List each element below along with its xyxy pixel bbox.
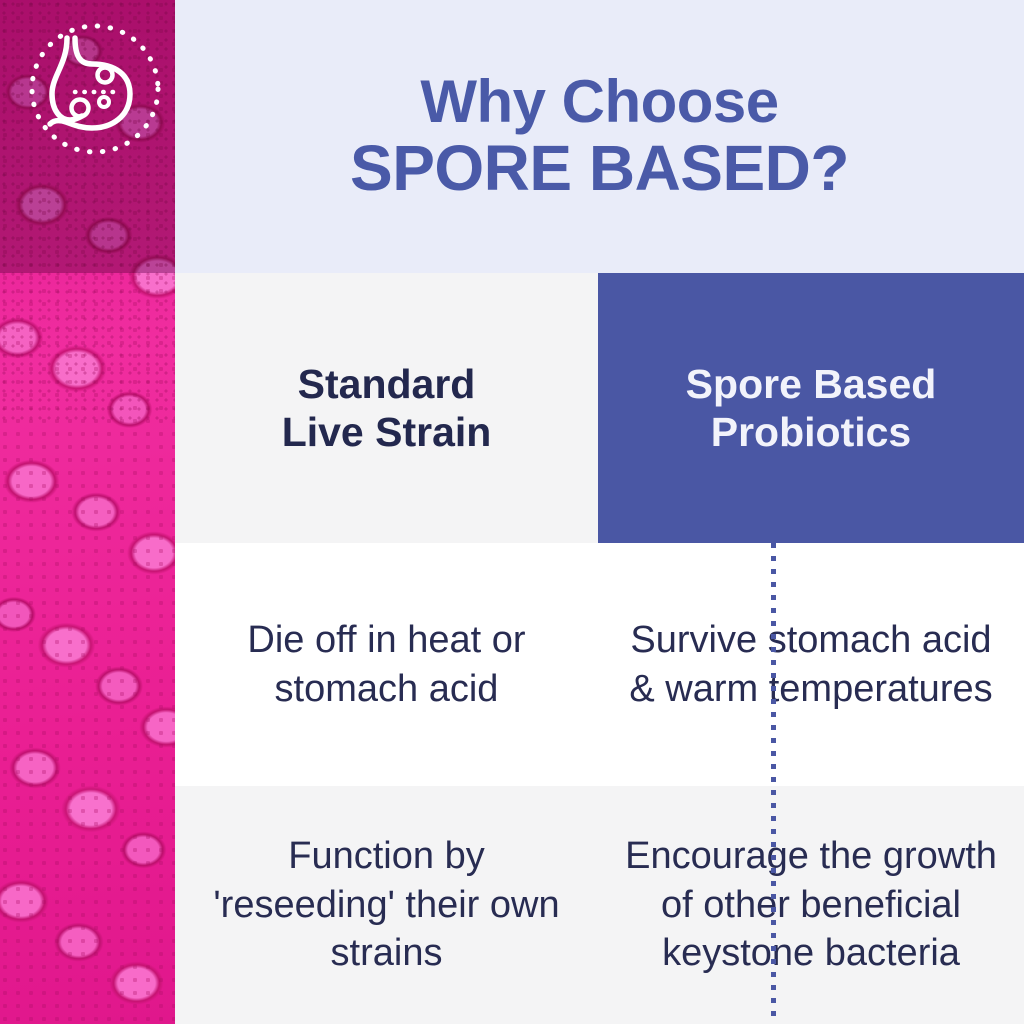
column-header-spore-line-2: Probiotics (711, 409, 911, 455)
infographic-root: Why Choose SPORE BASED? Standard Live St… (0, 0, 1024, 1024)
table-header-row: Standard Live Strain Spore Based Probiot… (175, 273, 1024, 543)
column-header-standard-line-2: Live Strain (282, 409, 492, 455)
row-1-standard-cell: Die off in heat or stomach acid (175, 543, 598, 786)
column-divider-dotted (771, 543, 776, 1024)
header-band: Why Choose SPORE BASED? (175, 0, 1024, 273)
cell-texture-strip (0, 0, 175, 1024)
table-row: Function by 'reseeding' their own strain… (175, 786, 1024, 1024)
comparison-table: Standard Live Strain Spore Based Probiot… (175, 273, 1024, 1024)
column-header-standard-live-strain: Standard Live Strain (175, 273, 598, 543)
column-header-spore-based-probiotics: Spore Based Probiotics (598, 273, 1024, 543)
table-row: Die off in heat or stomach acid Survive … (175, 543, 1024, 786)
column-header-standard-line-1: Standard (298, 361, 476, 407)
page-title-line-1: Why Choose (420, 70, 778, 134)
stomach-icon (22, 16, 168, 162)
column-header-spore-line-1: Spore Based (686, 361, 937, 407)
row-2-spore-cell: Encourage the growth of other beneficial… (598, 786, 1024, 1024)
row-2-standard-cell: Function by 'reseeding' their own strain… (175, 786, 598, 1024)
page-title-line-2: SPORE BASED? (350, 135, 849, 203)
row-1-spore-cell: Survive stomach acid & warm temperatures (598, 543, 1024, 786)
